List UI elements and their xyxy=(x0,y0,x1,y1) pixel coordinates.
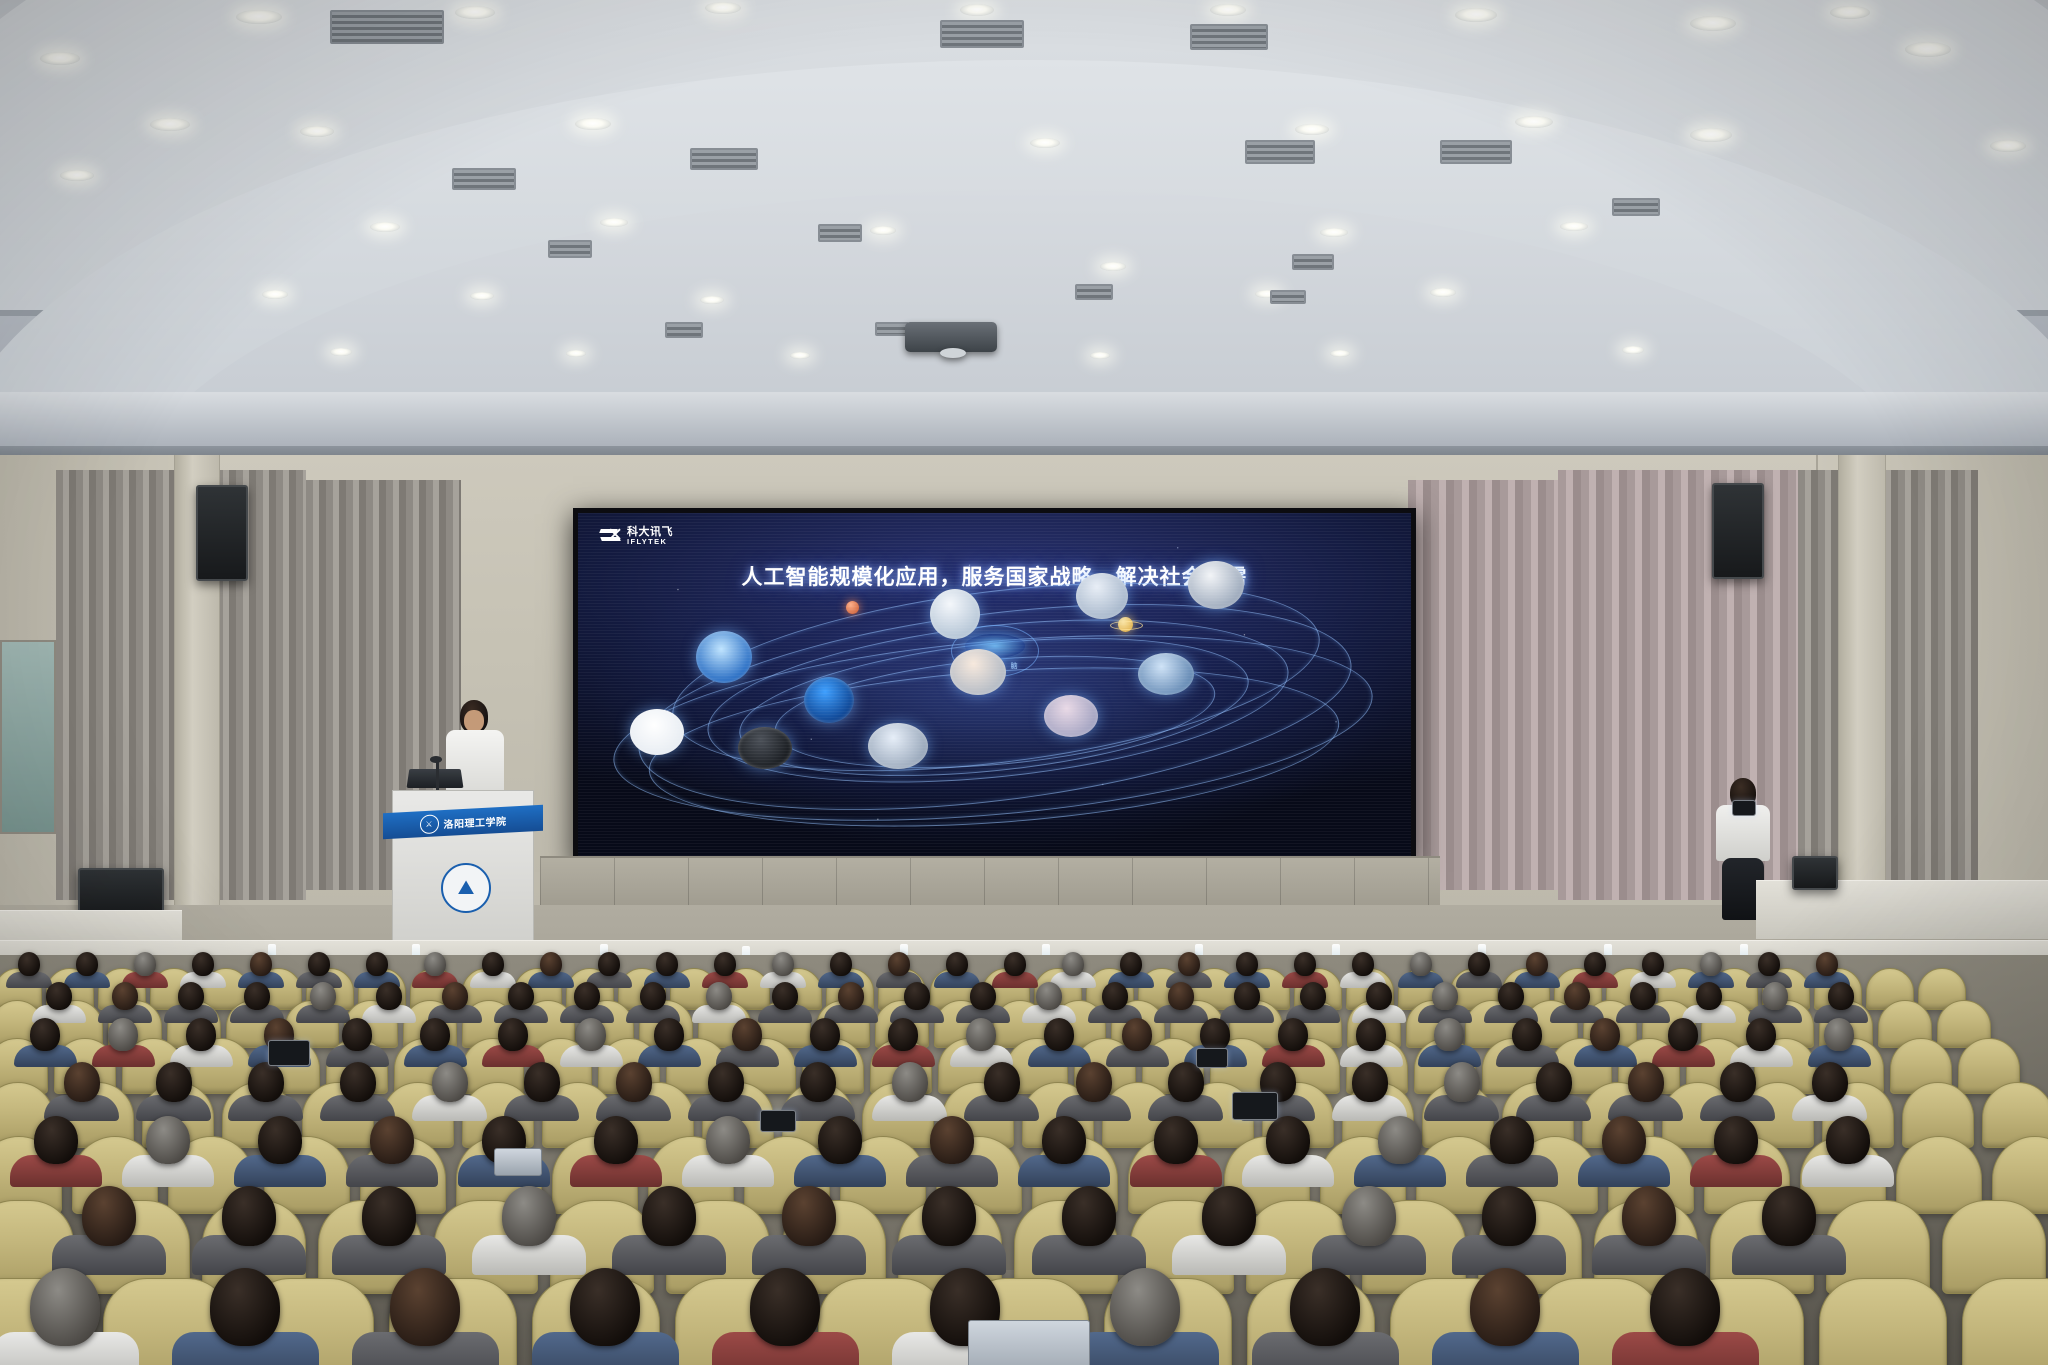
hvac-vent-icon xyxy=(875,322,909,336)
audience-head xyxy=(222,1186,276,1246)
iflytek-logo: ✕ 科大讯飞 IFLYTEK xyxy=(600,527,673,546)
audience-head xyxy=(524,1062,560,1102)
audience-head xyxy=(134,952,156,976)
audience-head xyxy=(570,1268,640,1346)
audience-head xyxy=(1154,1116,1198,1164)
recessed-downlight xyxy=(1515,116,1553,128)
audience-head xyxy=(482,952,504,976)
recessed-downlight xyxy=(60,170,94,181)
audience-head xyxy=(34,1116,78,1164)
audience-head xyxy=(1234,982,1260,1010)
audience-head xyxy=(390,1268,460,1346)
audience-head xyxy=(112,982,138,1010)
recessed-downlight xyxy=(600,218,628,227)
audience-head xyxy=(1290,1268,1360,1346)
audience-phone-icon xyxy=(268,1040,310,1066)
audience-head xyxy=(1650,1268,1720,1346)
audience-head xyxy=(946,952,968,976)
recessed-downlight xyxy=(262,290,288,299)
audience-head xyxy=(1584,952,1606,976)
audience-head xyxy=(424,952,446,976)
audience-head xyxy=(540,952,562,976)
audience-head xyxy=(1468,952,1490,976)
audience-head xyxy=(1828,982,1854,1010)
audience-head xyxy=(248,1062,284,1102)
audience-head xyxy=(76,952,98,976)
recessed-downlight xyxy=(700,296,724,304)
audience-head xyxy=(1622,1186,1676,1246)
auditorium-seat[interactable] xyxy=(1962,1278,2048,1365)
audience-head xyxy=(1410,952,1432,976)
videographer-camera-icon xyxy=(1732,800,1756,816)
planet-mars-icon xyxy=(846,601,859,614)
recessed-downlight xyxy=(1560,222,1588,231)
recessed-downlight xyxy=(470,292,494,300)
recessed-downlight xyxy=(790,352,810,359)
hvac-vent-icon xyxy=(1245,140,1315,164)
audience-head xyxy=(772,982,798,1010)
recessed-downlight xyxy=(300,126,334,137)
audience-head xyxy=(782,1186,836,1246)
hvac-vent-icon xyxy=(1075,284,1113,300)
scales-of-justice-icon xyxy=(930,589,980,639)
hvac-vent-icon xyxy=(548,240,592,258)
hvac-vent-icon xyxy=(1292,254,1334,270)
curtain-far-right xyxy=(1798,470,1978,890)
recessed-downlight xyxy=(575,118,611,130)
audience-head xyxy=(1294,952,1316,976)
audience-head xyxy=(888,952,910,976)
recessed-downlight xyxy=(455,6,495,19)
audience-head xyxy=(1762,982,1788,1010)
translation-meeting-icon xyxy=(868,723,928,769)
audience-head xyxy=(1042,1116,1086,1164)
audience-head xyxy=(966,1018,996,1051)
audience-head xyxy=(1714,1116,1758,1164)
audience-head xyxy=(1444,1062,1480,1102)
audience-head xyxy=(1762,1186,1816,1246)
university-emblem-icon: ⛰ xyxy=(441,863,491,913)
audience-head xyxy=(1526,952,1548,976)
audience-head xyxy=(342,1018,372,1051)
audience-head xyxy=(1036,982,1062,1010)
audience-head xyxy=(1356,1018,1386,1051)
audience-head xyxy=(714,952,736,976)
audience-head xyxy=(1110,1268,1180,1346)
audience-head xyxy=(772,952,794,976)
audience-head xyxy=(642,1186,696,1246)
recessed-downlight xyxy=(1030,138,1060,148)
audience-head xyxy=(310,982,336,1010)
audience-head xyxy=(1602,1116,1646,1164)
slide-node-education[interactable] xyxy=(950,649,1006,697)
audience-head xyxy=(1512,1018,1542,1051)
av-equipment-right xyxy=(1792,856,1838,890)
audience-head xyxy=(1696,982,1722,1010)
audience-head xyxy=(1432,982,1458,1010)
wall-speaker-icon-right xyxy=(1712,483,1764,579)
audience-head xyxy=(970,982,996,1010)
audience-head xyxy=(18,952,40,976)
audience-head xyxy=(654,1018,684,1051)
audience-head xyxy=(892,1062,928,1102)
audience-head xyxy=(574,982,600,1010)
smart-home-icon xyxy=(1076,573,1128,619)
hvac-vent-icon xyxy=(1270,290,1306,304)
audience-head xyxy=(1102,982,1128,1010)
hvac-vent-icon xyxy=(818,224,862,242)
audience-head xyxy=(1378,1116,1422,1164)
audience-head xyxy=(1628,1062,1664,1102)
audience-head xyxy=(186,1018,216,1051)
audience-head xyxy=(30,1018,60,1051)
audience-head xyxy=(366,952,388,976)
audience-head xyxy=(1470,1268,1540,1346)
audience-head xyxy=(1120,952,1142,976)
audience-head xyxy=(1122,1018,1152,1051)
audience-head xyxy=(1590,1018,1620,1051)
audience-laptop[interactable] xyxy=(968,1320,1090,1365)
audience-head xyxy=(838,982,864,1010)
recessed-downlight xyxy=(1210,4,1246,16)
audience-head xyxy=(1434,1018,1464,1051)
recessed-downlight xyxy=(1690,128,1732,142)
projector-lens-icon xyxy=(940,348,966,358)
audience-head xyxy=(1278,1018,1308,1051)
audience-head xyxy=(502,1186,556,1246)
audience-phone-icon xyxy=(760,1110,796,1132)
audience-head xyxy=(46,982,72,1010)
audience-head xyxy=(340,1062,376,1102)
audience-head xyxy=(800,1062,836,1102)
audience-head xyxy=(432,1062,468,1102)
telecom-carriers-icon xyxy=(630,709,684,755)
audience-head xyxy=(732,1018,762,1051)
audience-head xyxy=(1564,982,1590,1010)
hvac-vent-icon xyxy=(1612,198,1660,216)
marketing-team-icon xyxy=(1044,695,1098,737)
audience-head xyxy=(376,982,402,1010)
led-presentation-screen[interactable]: ✕ 科大讯飞 IFLYTEK 人工智能规模化应用，服务国家战略，解决社会刚需 讯… xyxy=(573,508,1416,866)
audience-head xyxy=(1536,1062,1572,1102)
audience-head xyxy=(708,1062,744,1102)
recessed-downlight xyxy=(1622,346,1644,354)
audience-head xyxy=(1202,1186,1256,1246)
audience-head xyxy=(156,1062,192,1102)
hvac-vent-icon xyxy=(1190,24,1268,50)
education-child-icon xyxy=(950,649,1006,695)
slide-node-service[interactable] xyxy=(1188,561,1244,611)
audience-head xyxy=(1044,1018,1074,1051)
slide-node-translate[interactable] xyxy=(868,723,928,771)
audience-head xyxy=(1062,952,1084,976)
audience-head xyxy=(1668,1018,1698,1051)
audience-head xyxy=(640,982,666,1010)
recessed-downlight xyxy=(1330,350,1350,357)
logo-english-name: IFLYTEK xyxy=(627,538,673,546)
audience-head xyxy=(1366,982,1392,1010)
audience-head xyxy=(362,1186,416,1246)
audience-head xyxy=(30,1268,100,1346)
hvac-vent-icon xyxy=(330,10,444,44)
audience-head xyxy=(258,1116,302,1164)
recessed-downlight xyxy=(370,222,400,232)
slide-node-operator[interactable] xyxy=(630,709,684,757)
recessed-downlight xyxy=(1690,16,1736,31)
audience-head xyxy=(1200,1018,1230,1051)
audience-head xyxy=(1824,1018,1854,1051)
audience-head xyxy=(616,1062,652,1102)
audience-head xyxy=(1498,982,1524,1010)
audience-head xyxy=(706,982,732,1010)
hvac-vent-icon xyxy=(940,20,1024,48)
audience-head xyxy=(1004,952,1026,976)
audience-head xyxy=(904,982,930,1010)
audience-head xyxy=(308,952,330,976)
audience-head xyxy=(1178,952,1200,976)
audience-head xyxy=(1720,1062,1756,1102)
recessed-downlight xyxy=(1320,228,1348,237)
wall-speaker-icon-left xyxy=(196,485,248,581)
audience-head xyxy=(1816,952,1838,976)
recessed-downlight xyxy=(1905,42,1951,57)
slide-node-city[interactable] xyxy=(696,631,752,685)
audience-head xyxy=(1168,1062,1204,1102)
audience-laptop[interactable] xyxy=(494,1148,542,1176)
audience-head xyxy=(1236,952,1258,976)
audience-head xyxy=(1300,982,1326,1010)
audience-head xyxy=(706,1116,750,1164)
audience-head xyxy=(108,1018,138,1051)
recessed-downlight xyxy=(236,10,282,24)
university-seal-icon: ⚔ xyxy=(420,814,439,834)
audience-head xyxy=(1700,952,1722,976)
audience-head xyxy=(1352,1062,1388,1102)
audience-head xyxy=(1490,1116,1534,1164)
slide-node-home[interactable] xyxy=(1076,573,1128,621)
recessed-downlight xyxy=(1090,352,1110,359)
recessed-downlight xyxy=(1100,262,1126,271)
customer-service-icon xyxy=(1188,561,1244,609)
audience-head xyxy=(178,982,204,1010)
audience-head xyxy=(984,1062,1020,1102)
audience-head xyxy=(244,982,270,1010)
presenter-laptop[interactable] xyxy=(407,769,464,788)
presenter-face xyxy=(464,710,484,732)
audience-head xyxy=(1746,1018,1776,1051)
audience-head xyxy=(1168,982,1194,1010)
recessed-downlight xyxy=(1830,6,1870,19)
window-left xyxy=(0,640,56,834)
audience-head xyxy=(750,1268,820,1346)
slide-node-transcribe[interactable] xyxy=(738,727,792,771)
recessed-downlight xyxy=(1455,8,1497,22)
recessed-downlight xyxy=(150,118,190,131)
audience-head xyxy=(210,1268,280,1346)
audience-head xyxy=(922,1186,976,1246)
slide-node-justice[interactable] xyxy=(930,589,980,641)
podium-microphone-head-icon xyxy=(430,756,442,763)
hvac-vent-icon xyxy=(690,148,758,170)
slide-node-automotive[interactable] xyxy=(1138,653,1194,697)
audience-head xyxy=(1062,1186,1116,1246)
audience-head xyxy=(1826,1116,1870,1164)
smart-car-icon xyxy=(1138,653,1194,695)
recessed-downlight xyxy=(1295,124,1329,135)
audience-head xyxy=(888,1018,918,1051)
audience-head xyxy=(508,982,534,1010)
audience-head xyxy=(1758,952,1780,976)
podium-banner: ⚔ 洛阳理工学院 xyxy=(383,805,543,839)
audience-head xyxy=(810,1018,840,1051)
audience-head xyxy=(192,952,214,976)
audience-head xyxy=(1812,1062,1848,1102)
audience-head xyxy=(1642,952,1664,976)
hvac-vent-icon xyxy=(665,322,703,338)
recessed-downlight xyxy=(566,350,586,357)
audience-head xyxy=(64,1062,100,1102)
audience-head xyxy=(598,952,620,976)
recessed-downlight xyxy=(40,52,80,65)
audience-head xyxy=(818,1116,862,1164)
audience-head xyxy=(1352,952,1374,976)
recessed-downlight xyxy=(1430,288,1456,297)
audience-head xyxy=(830,952,852,976)
audience-head xyxy=(1482,1186,1536,1246)
audience-head xyxy=(656,952,678,976)
recessed-downlight xyxy=(960,4,994,16)
audience-phone-icon xyxy=(1232,1092,1278,1120)
audience-head xyxy=(82,1186,136,1246)
screenshot-root: ✕ 科大讯飞 IFLYTEK 人工智能规模化应用，服务国家战略，解决社会刚需 讯… xyxy=(0,0,2048,1365)
audience-head xyxy=(250,952,272,976)
audience-head xyxy=(498,1018,528,1051)
hvac-vent-icon xyxy=(452,168,516,190)
audience-head xyxy=(146,1116,190,1164)
audience-head xyxy=(1076,1062,1112,1102)
podium-banner-text: 洛阳理工学院 xyxy=(444,812,507,830)
audience-head xyxy=(576,1018,606,1051)
curtain-right-inner xyxy=(1408,480,1558,890)
smart-city-icon xyxy=(696,631,752,683)
voice-recorder-icon xyxy=(738,727,792,769)
audience-head xyxy=(930,1116,974,1164)
audience-head xyxy=(420,1018,450,1051)
recessed-downlight xyxy=(705,2,741,14)
hvac-vent-icon xyxy=(1440,140,1512,164)
recessed-downlight xyxy=(870,226,896,235)
recessed-downlight xyxy=(330,348,352,356)
audience-phone-icon xyxy=(1196,1048,1228,1068)
slide-node-medical[interactable] xyxy=(804,677,854,725)
audience-head xyxy=(1342,1186,1396,1246)
slide-node-marketing[interactable] xyxy=(1044,695,1098,739)
audience-head xyxy=(442,982,468,1010)
slide-title: 人工智能规模化应用，服务国家战略，解决社会刚需 xyxy=(578,561,1411,591)
audience-head xyxy=(594,1116,638,1164)
audience-head xyxy=(1266,1116,1310,1164)
podium: ⛰ ⚔ 洛阳理工学院 xyxy=(392,790,534,952)
dna-helix-icon xyxy=(804,677,854,723)
planet-saturn-ring-icon xyxy=(1110,621,1143,630)
audience-head xyxy=(370,1116,414,1164)
recessed-downlight xyxy=(1990,140,2026,152)
auditorium-seat[interactable] xyxy=(1819,1278,1947,1365)
audience-head xyxy=(1630,982,1656,1010)
iflytek-x-mark-icon: ✕ xyxy=(600,527,622,545)
pillar-right xyxy=(1838,455,1886,925)
